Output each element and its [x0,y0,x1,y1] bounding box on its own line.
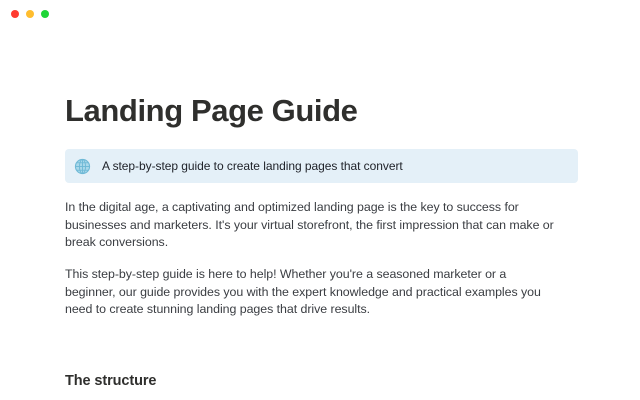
paragraph-guide: This step-by-step guide is here to help!… [65,266,555,318]
document-content: Landing Page Guide A step-by-step guide … [65,28,578,400]
callout-text: A step-by-step guide to create landing p… [102,159,403,173]
globe-icon [74,158,91,175]
heading-the-structure: The structure [65,319,578,389]
close-button[interactable] [11,10,19,18]
document-canvas[interactable]: Landing Page Guide A step-by-step guide … [0,28,640,400]
page-title: Landing Page Guide [65,28,578,128]
callout-banner: A step-by-step guide to create landing p… [65,149,578,183]
paragraph-intro: In the digital age, a captivating and op… [65,199,555,251]
window-titlebar [0,0,640,28]
maximize-button[interactable] [41,10,49,18]
heading-above-the-fold: Above the fold - you earn the customer’s… [65,389,578,400]
window-controls [11,10,49,18]
document-window: Landing Page Guide A step-by-step guide … [0,0,640,400]
minimize-button[interactable] [26,10,34,18]
